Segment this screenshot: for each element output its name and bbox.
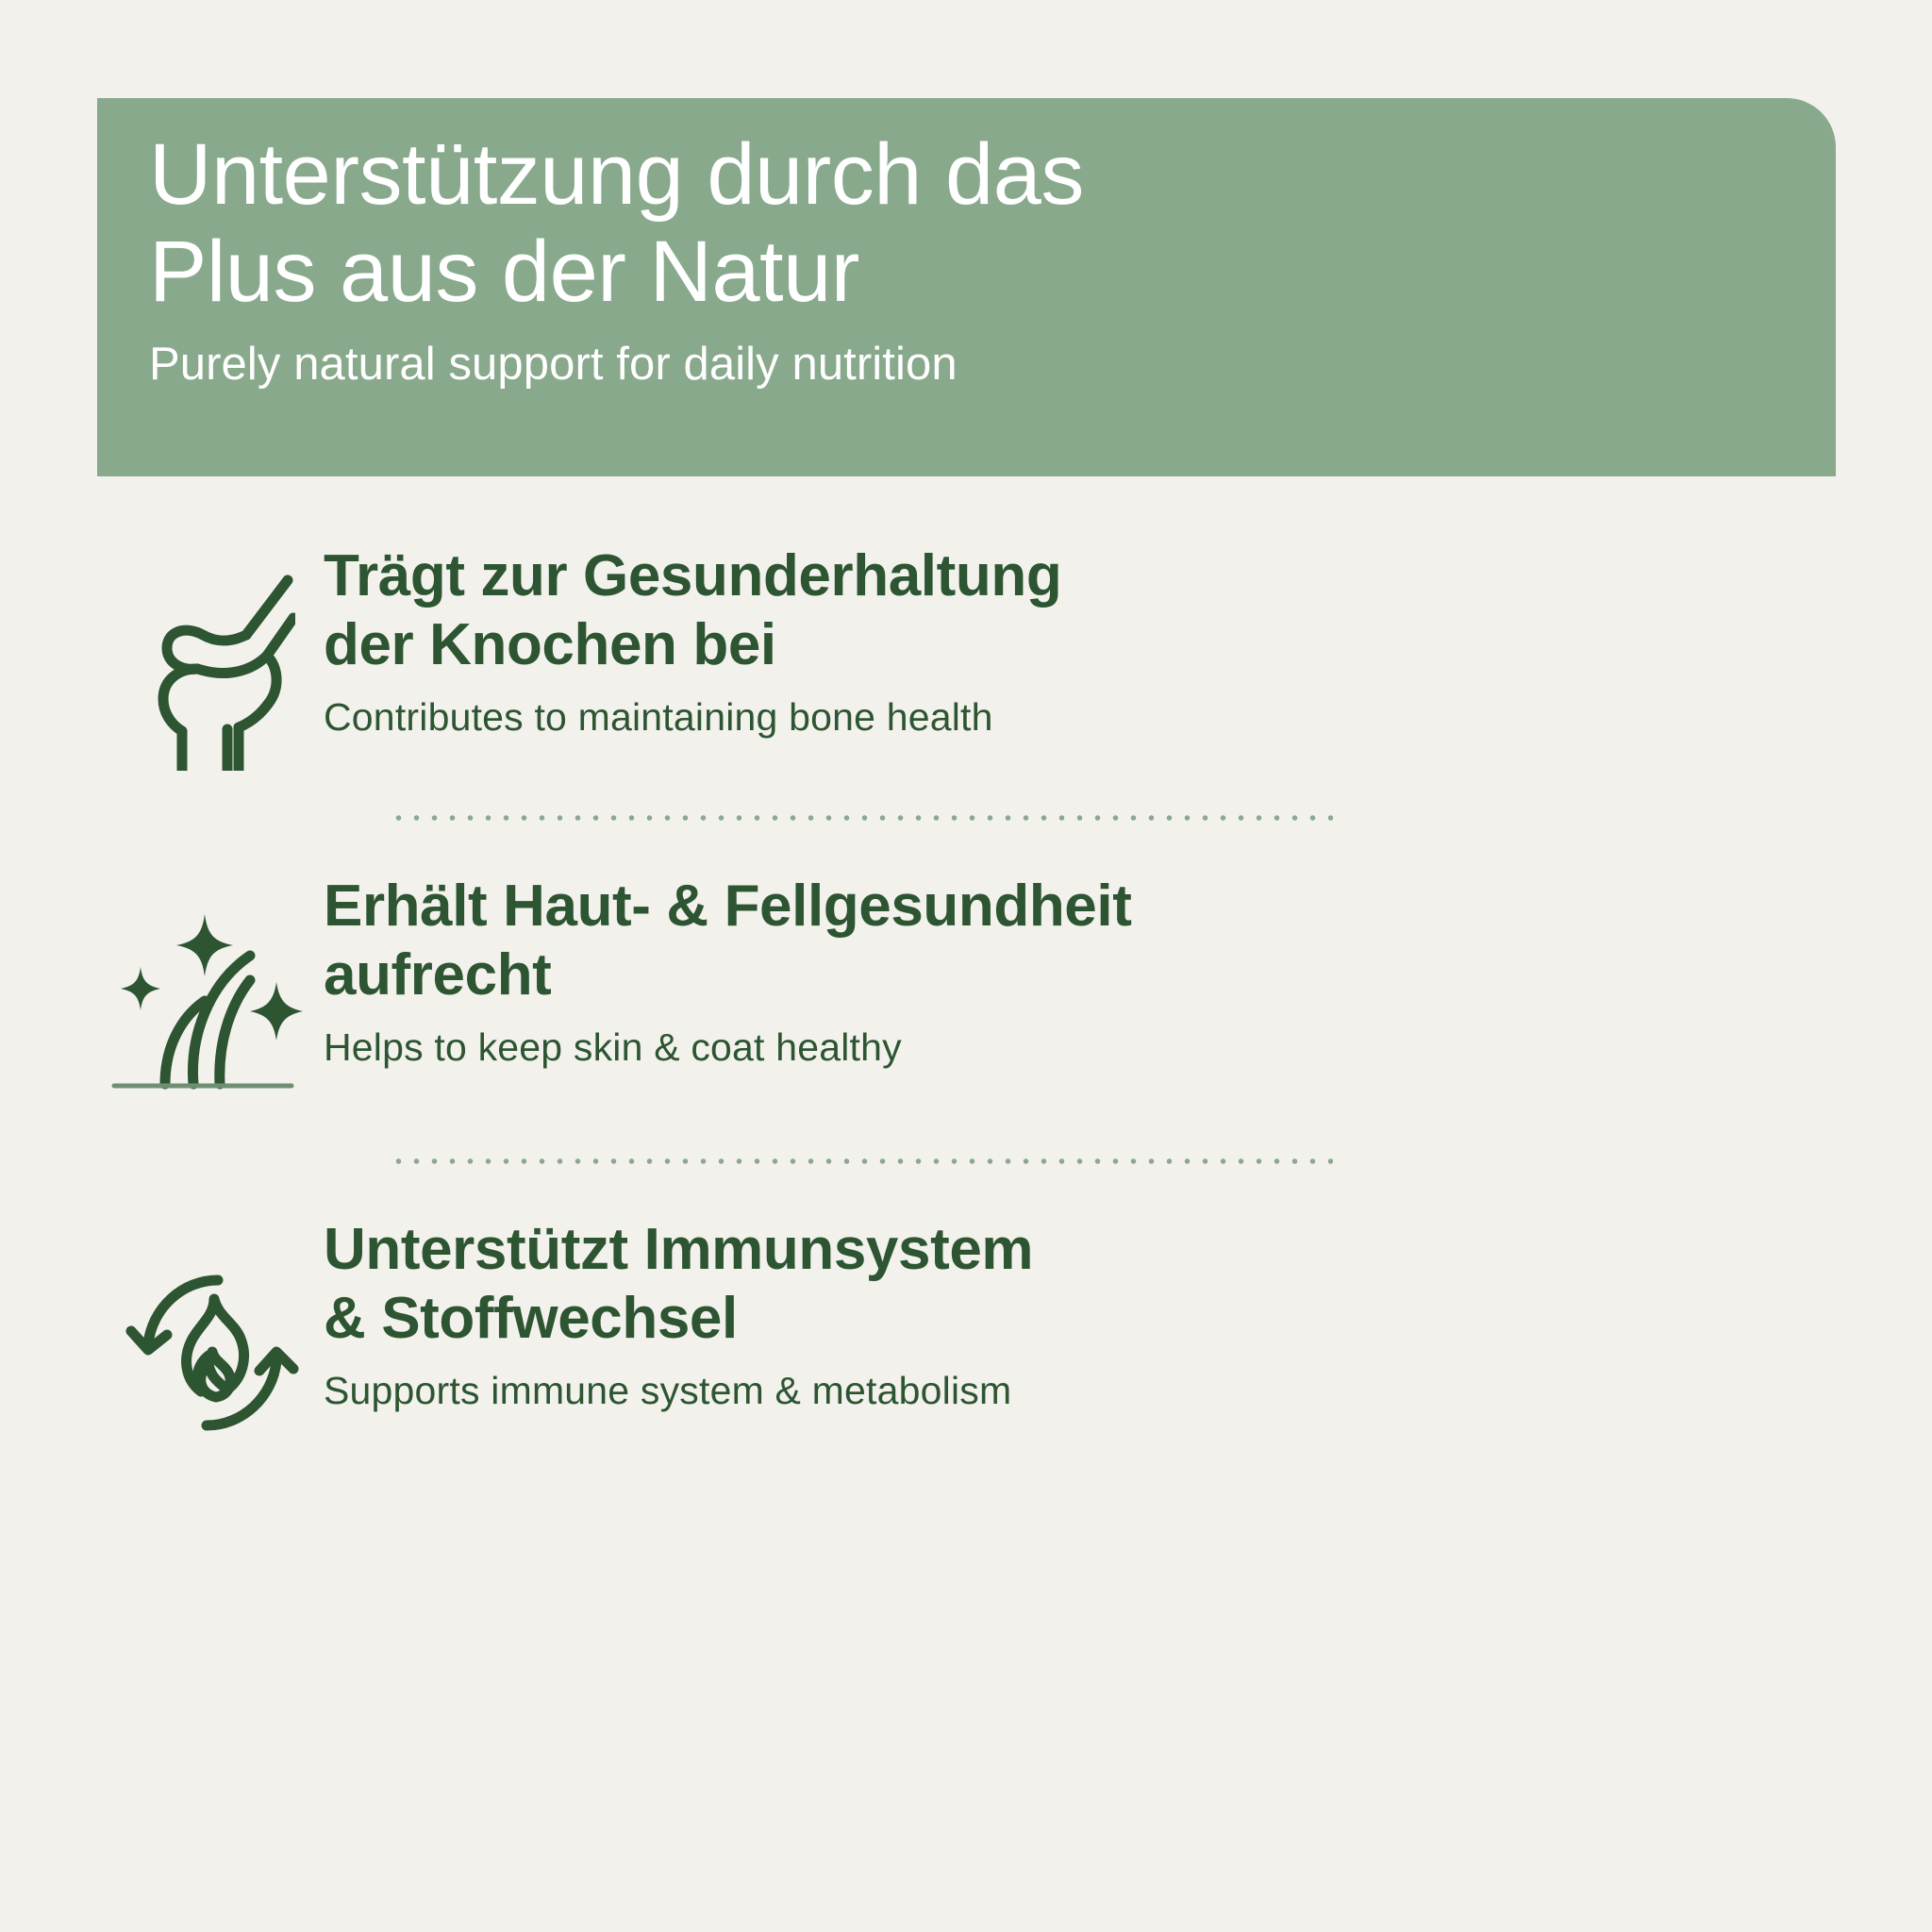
list-item: Erhält Haut- & Fellgesundheit aufrecht H… — [97, 858, 1836, 1119]
hair-sparkle-icon — [97, 858, 324, 1119]
page-title: Unterstützung durch das Plus aus der Nat… — [149, 126, 1564, 321]
benefit-subtitle: Supports immune system & metabolism — [324, 1368, 1836, 1414]
benefit-title: Unterstützt Immunsystem & Stoffwechsel — [324, 1215, 1836, 1353]
bone-joint-icon — [97, 528, 324, 775]
benefit-text: Unterstützt Immunsystem & Stoffwechsel S… — [324, 1202, 1836, 1415]
benefit-subtitle: Contributes to maintaining bone health — [324, 694, 1836, 741]
benefit-subtitle: Helps to keep skin & coat healthy — [324, 1024, 1836, 1071]
benefit-text: Trägt zur Gesunderhaltung der Knochen be… — [324, 528, 1836, 741]
divider — [390, 1158, 1333, 1164]
page-subtitle: Purely natural support for daily nutriti… — [149, 338, 1836, 391]
list-item: Trägt zur Gesunderhaltung der Knochen be… — [97, 528, 1836, 775]
benefit-title: Erhält Haut- & Fellgesundheit aufrecht — [324, 872, 1836, 1009]
benefits-list: Trägt zur Gesunderhaltung der Knochen be… — [97, 528, 1836, 1470]
list-item: Unterstützt Immunsystem & Stoffwechsel S… — [97, 1202, 1836, 1470]
flame-cycle-icon — [97, 1202, 324, 1470]
divider — [390, 815, 1333, 821]
benefit-text: Erhält Haut- & Fellgesundheit aufrecht H… — [324, 858, 1836, 1072]
benefit-title: Trägt zur Gesunderhaltung der Knochen be… — [324, 541, 1836, 679]
header-banner: Unterstützung durch das Plus aus der Nat… — [97, 98, 1836, 476]
